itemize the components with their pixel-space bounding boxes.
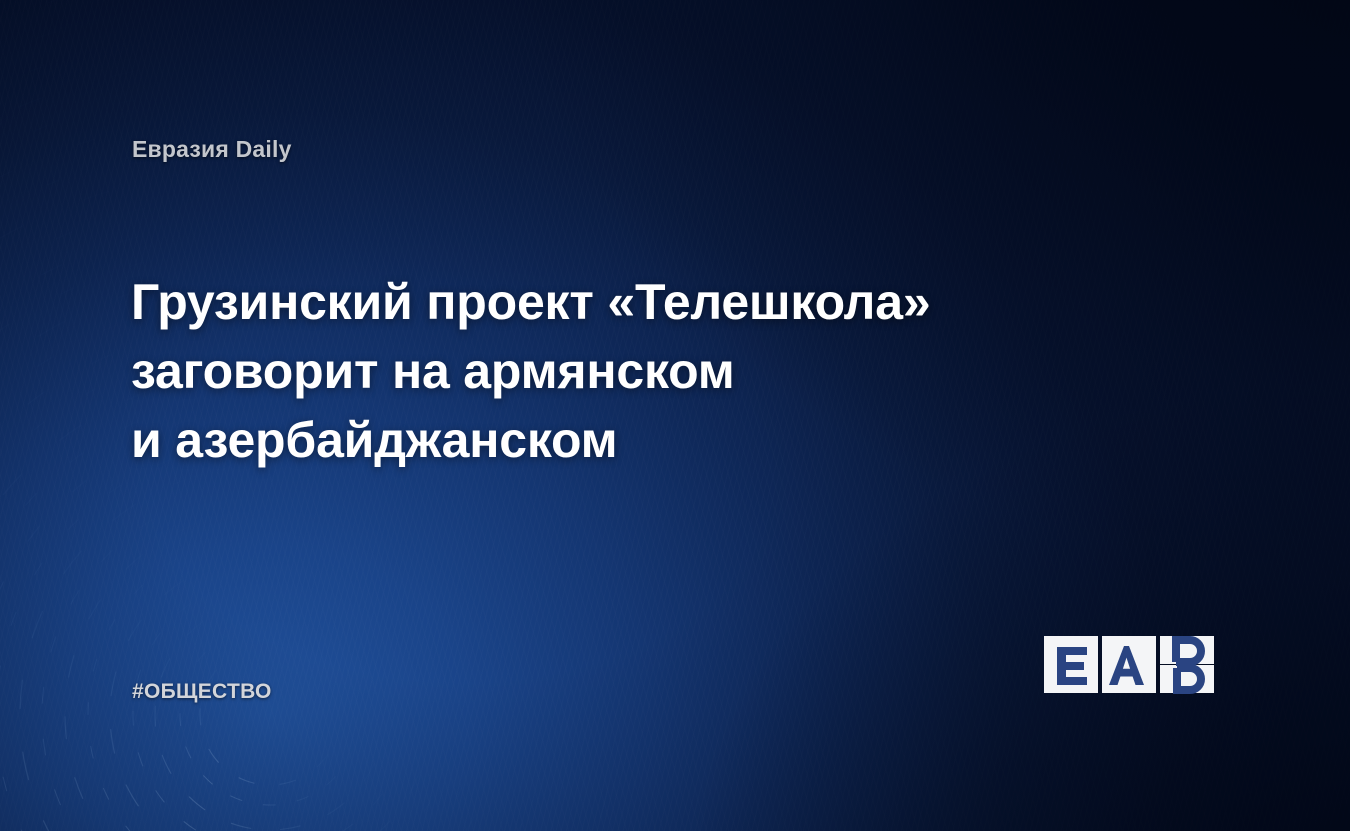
headline-line-1: Грузинский проект «Телешкола»: [131, 268, 1071, 337]
category-tag[interactable]: #ОБЩЕСТВО: [132, 680, 272, 704]
page-title: Грузинский проект «Телешкола» заговорит …: [131, 268, 1071, 475]
eadaily-logo: [1044, 634, 1222, 696]
brand-name: Евразия Daily: [132, 136, 292, 163]
headline-line-2: заговорит на армянском: [131, 337, 1071, 406]
card-content: Евразия Daily Грузинский проект «Телешко…: [0, 0, 1350, 831]
news-share-card: Евразия Daily Грузинский проект «Телешко…: [0, 0, 1350, 831]
headline-line-3: и азербайджанском: [131, 406, 1071, 475]
